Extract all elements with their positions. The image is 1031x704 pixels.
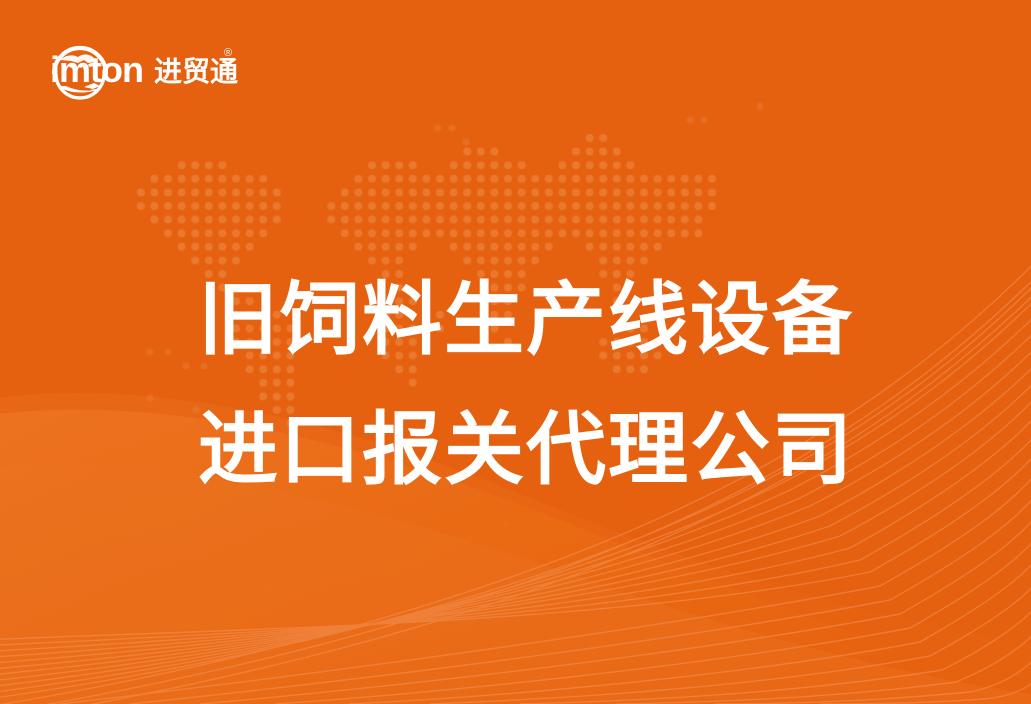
- logo-latin-text: imton: [50, 49, 143, 90]
- headline-line-1: 旧饲料生产线设备: [198, 255, 858, 385]
- globe-with-plane-logo: imton 进贸通 ®: [38, 30, 238, 100]
- promo-banner: imton 进贸通 ® 旧饲料生产线设备 进口报关代理公司: [0, 0, 1031, 704]
- trademark-icon: ®: [224, 47, 232, 59]
- headline-block: 旧饲料生产线设备 进口报关代理公司: [198, 255, 858, 515]
- logo-chinese-text: 进贸通: [154, 56, 238, 87]
- brand-logo[interactable]: imton 进贸通 ®: [38, 30, 238, 100]
- headline-line-2: 进口报关代理公司: [198, 385, 858, 515]
